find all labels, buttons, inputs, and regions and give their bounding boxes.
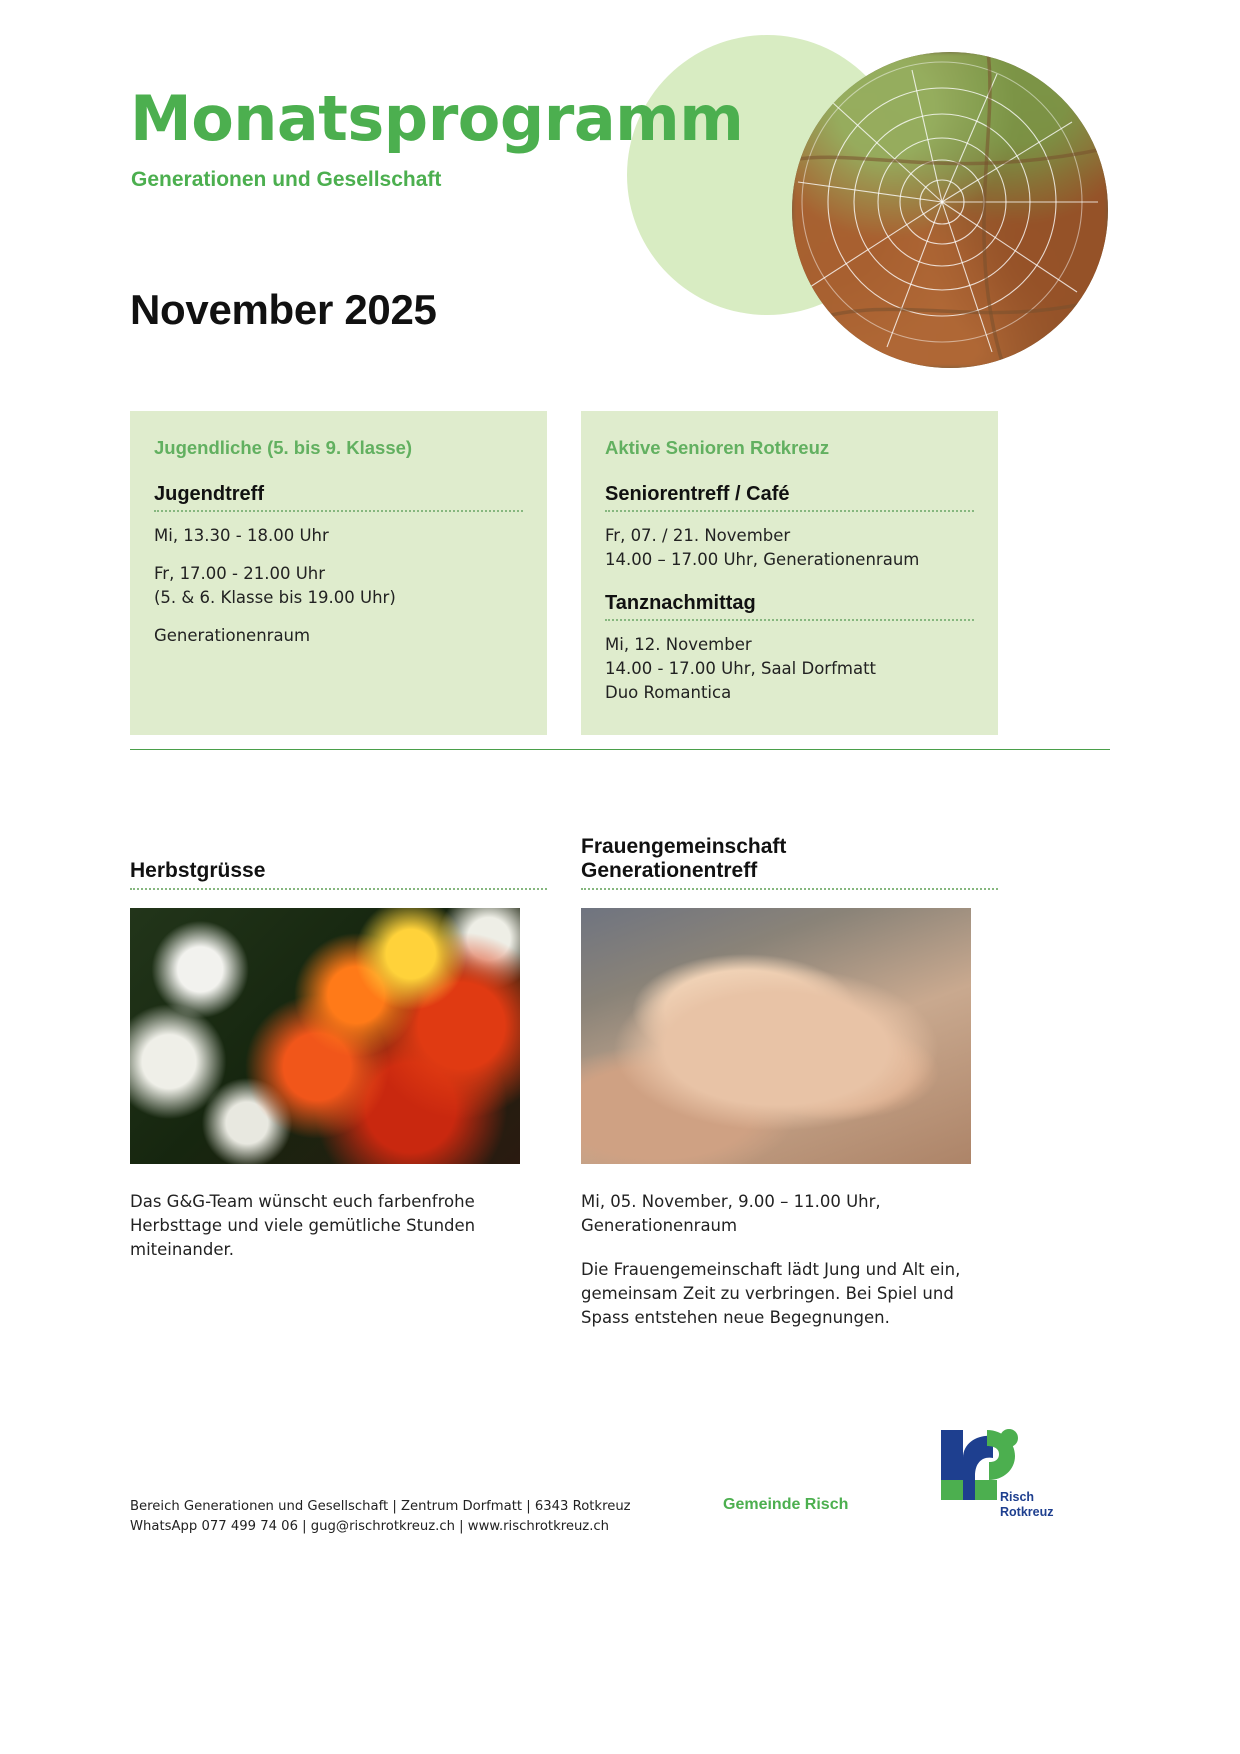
contact-channels[interactable]: WhatsApp 077 499 74 06 | gug@rischrotkre… bbox=[130, 1517, 631, 1537]
section-body: Mi, 05. November, 9.00 – 11.00 Uhr, Gene… bbox=[581, 1190, 998, 1330]
entry-title: Jugendtreff bbox=[154, 483, 523, 512]
program-entry: Jugendtreff Mi, 13.30 - 18.00 Uhr Fr, 17… bbox=[154, 483, 523, 648]
line-spacer bbox=[154, 610, 523, 624]
autumn-leaves-photo bbox=[130, 908, 520, 1164]
entry-details: Mi, 12. November 14.00 - 17.00 Uhr, Saal… bbox=[605, 633, 974, 705]
paragraph: Mi, 05. November, 9.00 – 11.00 Uhr, Gene… bbox=[581, 1190, 998, 1238]
section-heading: Frauengemeinschaft Generationentreff bbox=[581, 835, 998, 890]
contact-address: Bereich Generationen und Gesellschaft | … bbox=[130, 1497, 631, 1517]
program-box-youth: Jugendliche (5. bis 9. Klasse) Jugendtre… bbox=[130, 411, 547, 735]
entry-line: Duo Romantica bbox=[605, 681, 974, 705]
month-heading: November 2025 bbox=[130, 286, 437, 334]
section-frauengemeinschaft: Frauengemeinschaft Generationentreff Mi,… bbox=[581, 828, 998, 1330]
entry-details: Mi, 13.30 - 18.00 Uhr Fr, 17.00 - 21.00 … bbox=[154, 524, 523, 648]
footer-contact: Bereich Generationen und Gesellschaft | … bbox=[130, 1497, 631, 1538]
spider-web-icon bbox=[792, 52, 1108, 368]
logo-wordmark: Risch Rotkreuz bbox=[1000, 1490, 1053, 1520]
entry-title: Tanznachmittag bbox=[605, 592, 974, 621]
category-label: Jugendliche (5. bis 9. Klasse) bbox=[154, 437, 523, 459]
entry-line: Mi, 12. November bbox=[605, 633, 974, 657]
entry-details: Fr, 07. / 21. November 14.00 – 17.00 Uhr… bbox=[605, 524, 974, 572]
lower-sections: Herbstgrüsse Das G&G-Team wünscht euch f… bbox=[130, 828, 1110, 1330]
program-box-seniors: Aktive Senioren Rotkreuz Seniorentreff /… bbox=[581, 411, 998, 735]
entry-line: Mi, 13.30 - 18.00 Uhr bbox=[154, 524, 523, 548]
entry-line: Generationenraum bbox=[154, 624, 523, 648]
entry-title: Seniorentreff / Café bbox=[605, 483, 974, 512]
section-heading: Herbstgrüsse bbox=[130, 859, 547, 890]
logo-line-1: Risch bbox=[1000, 1490, 1053, 1505]
heading-line-1: Frauengemeinschaft bbox=[581, 835, 786, 858]
page-title: Monatsprogramm bbox=[130, 82, 743, 155]
section-heading-wrap: Frauengemeinschaft Generationentreff bbox=[581, 828, 998, 890]
photo-grain bbox=[581, 908, 971, 1164]
section-heading-wrap: Herbstgrüsse bbox=[130, 828, 547, 890]
line-spacer bbox=[154, 548, 523, 562]
header: Monatsprogramm Generationen und Gesellsc… bbox=[0, 0, 1240, 400]
program-entry: Seniorentreff / Café Fr, 07. / 21. Novem… bbox=[605, 483, 974, 572]
poster-page: Monatsprogramm Generationen und Gesellsc… bbox=[0, 0, 1240, 1754]
heading-line-2: Generationentreff bbox=[581, 859, 757, 882]
photo-grain bbox=[130, 908, 520, 1164]
logo-line-2: Rotkreuz bbox=[1000, 1505, 1053, 1520]
program-entry: Tanznachmittag Mi, 12. November 14.00 - … bbox=[605, 592, 974, 705]
page-subtitle: Generationen und Gesellschaft bbox=[131, 168, 441, 192]
entry-line: (5. & 6. Klasse bis 19.00 Uhr) bbox=[154, 586, 523, 610]
paragraph: Die Frauengemeinschaft lädt Jung und Alt… bbox=[581, 1258, 998, 1330]
paragraph: Das G&G-Team wünscht euch farbenfrohe He… bbox=[130, 1190, 547, 1262]
entry-line: Fr, 07. / 21. November bbox=[605, 524, 974, 548]
category-label: Aktive Senioren Rotkreuz bbox=[605, 437, 974, 459]
holding-hands-photo bbox=[581, 908, 971, 1164]
section-body: Das G&G-Team wünscht euch farbenfrohe He… bbox=[130, 1190, 547, 1262]
program-boxes: Jugendliche (5. bis 9. Klasse) Jugendtre… bbox=[130, 411, 1110, 735]
entry-line: Fr, 17.00 - 21.00 Uhr bbox=[154, 562, 523, 586]
municipality-label: Gemeinde Risch bbox=[723, 1496, 848, 1514]
entry-line: 14.00 - 17.00 Uhr, Saal Dorfmatt bbox=[605, 657, 974, 681]
spider-web-autumn-photo bbox=[792, 52, 1108, 368]
entry-line: 14.00 – 17.00 Uhr, Generationenraum bbox=[605, 548, 974, 572]
section-divider bbox=[130, 749, 1110, 750]
section-herbstgruesse: Herbstgrüsse Das G&G-Team wünscht euch f… bbox=[130, 828, 547, 1330]
